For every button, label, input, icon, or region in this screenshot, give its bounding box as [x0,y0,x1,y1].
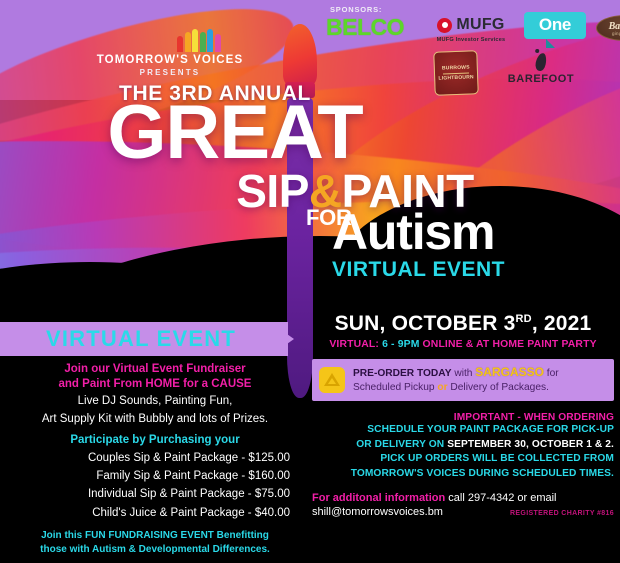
event-date: SUN, OCTOBER 3RD, 2021 [312,312,614,336]
logo-figure [185,32,191,52]
logo-figure [215,34,221,52]
one-wordmark: One [539,15,571,34]
sponsor-logo-one: One [524,12,586,48]
virtual-label: VIRTUAL: [329,339,382,350]
virtual-event-banner: VIRTUAL EVENT [0,322,306,356]
contact-section: For additonal information call 297-4342 … [312,492,614,518]
right-content-column: SUN, OCTOBER 3RD, 2021 VIRTUAL: 6 - 9PM … [312,312,614,518]
left-content-column: Join our Virtual Event Fundraiser and Pa… [6,362,304,563]
mufg-mark-icon [437,18,452,33]
sponsor-logo-burrows-lightbourn: BURROWS LIGHTBOURN [433,50,479,96]
headline-sip: SIP [236,165,309,217]
fundraising-line-1: Join this FUN FUNDRAISING EVENT Benefitt… [6,529,304,542]
important-line-2a: OR DELIVERY ON [356,439,447,450]
mufg-wordmark: MUFG [456,16,504,34]
important-notice: IMPORTANT - WHEN ORDERING SCHEDULE YOUR … [312,412,614,481]
triangle-glyph [324,373,340,386]
important-line-4: TOMORROW'S VOICES DURING SCHEDULED TIMES… [312,467,614,481]
important-line-3: PICK UP ORDERS WILL BE COLLECTED FROM [312,452,614,466]
sponsors-label: SPONSORS: [330,5,382,14]
headline-autism: Autism [332,207,494,257]
preorder-text: PRE-ORDER TODAY with SARGASSO for Schedu… [353,365,559,394]
event-date-year: , 2021 [532,312,592,335]
activities-line-2: Art Supply Kit with Bubbly and lots of P… [6,412,304,428]
preorder-line2-b: Delivery of Packages. [448,382,549,393]
footprint-icon [534,52,548,72]
package-family: Family Sip & Paint Package - $160.00 [6,468,304,485]
preorder-for: for [544,368,559,379]
important-heading: IMPORTANT - WHEN ORDERING [312,412,614,423]
organizer-presents: PRESENTS [0,68,340,77]
organizer-name: TOMORROW'S VOICES [0,54,340,66]
charity-registration: REGISTERED CHARITY #816 [510,510,614,517]
sargasso-logo-icon [319,367,345,393]
contact-email: shill@tomorrowsvoices.bm [312,506,443,518]
important-line-1: SCHEDULE YOUR PAINT PACKAGE FOR PICK-UP [312,423,614,437]
contact-line: For additonal information call 297-4342 … [312,492,614,504]
important-line-2: OR DELIVERY ON SEPTEMBER 30, OCTOBER 1 &… [312,438,614,452]
sponsors-section: SPONSORS: BELCO MUFG MUFG Investor Servi… [318,3,618,98]
barritts-tagline: ginger beer [612,31,620,36]
preorder-lead: PRE-ORDER TODAY [353,368,452,379]
event-date-ordinal: RD [516,313,532,325]
preorder-with: with [452,368,476,379]
sponsor-logo-barritts: Barritt's ginger beer [596,15,620,41]
event-time-line: VIRTUAL: 6 - 9PM ONLINE & AT HOME PAINT … [312,339,614,350]
headline-virtual-event: VIRTUAL EVENT [332,258,602,282]
tomorrows-voices-logo [168,12,230,52]
sponsor-logo-belco: BELCO [326,14,404,41]
preorder-line2-a: Scheduled Pickup [353,382,437,393]
event-format: ONLINE & AT HOME PAINT PARTY [420,339,597,350]
headline-great: GREAT [0,98,470,168]
sargasso-brand: SARGASSO [475,365,544,379]
preorder-or: or [437,382,447,393]
activities-line-1: Live DJ Sounds, Painting Fun, [6,394,304,410]
sponsor-logo-mufg: MUFG MUFG Investor Services [416,16,526,43]
logo-figure [200,32,206,52]
package-individual: Individual Sip & Paint Package - $75.00 [6,486,304,503]
logo-figure [207,29,213,52]
logo-figure [192,29,198,52]
one-speech-tail-icon [546,39,555,48]
participate-heading: Participate by Purchasing your [6,433,304,448]
burrows-line1: BURROWS [442,65,470,72]
barefoot-wordmark: BAREFOOT [496,73,586,85]
logo-figure [177,36,183,52]
mufg-tagline: MUFG Investor Services [416,37,526,43]
package-couples: Couples Sip & Paint Package - $125.00 [6,450,304,467]
event-time: 6 - 9PM [382,339,419,350]
banner-label: VIRTUAL EVENT [0,326,282,352]
sponsor-logo-barefoot: BAREFOOT [496,53,586,85]
event-poster: SPONSORS: BELCO MUFG MUFG Investor Servi… [0,0,620,563]
event-date-main: SUN, OCTOBER 3 [335,312,516,335]
fundraising-line-2: those with Autism & Developmental Differ… [6,543,304,556]
preorder-callout: PRE-ORDER TODAY with SARGASSO for Schedu… [312,359,614,401]
burrows-line2: LIGHTBOURN [438,74,474,81]
important-dates: SEPTEMBER 30, OCTOBER 1 & 2. [447,439,614,450]
contact-phone: call 297-4342 or email [445,492,556,504]
fundraiser-line-2: and Paint From HOME for a CAUSE [6,377,304,392]
contact-label: For additonal information [312,492,445,504]
fundraiser-line-1: Join our Virtual Event Fundraiser [6,362,304,377]
package-child: Child's Juice & Paint Package - $40.00 [6,505,304,522]
